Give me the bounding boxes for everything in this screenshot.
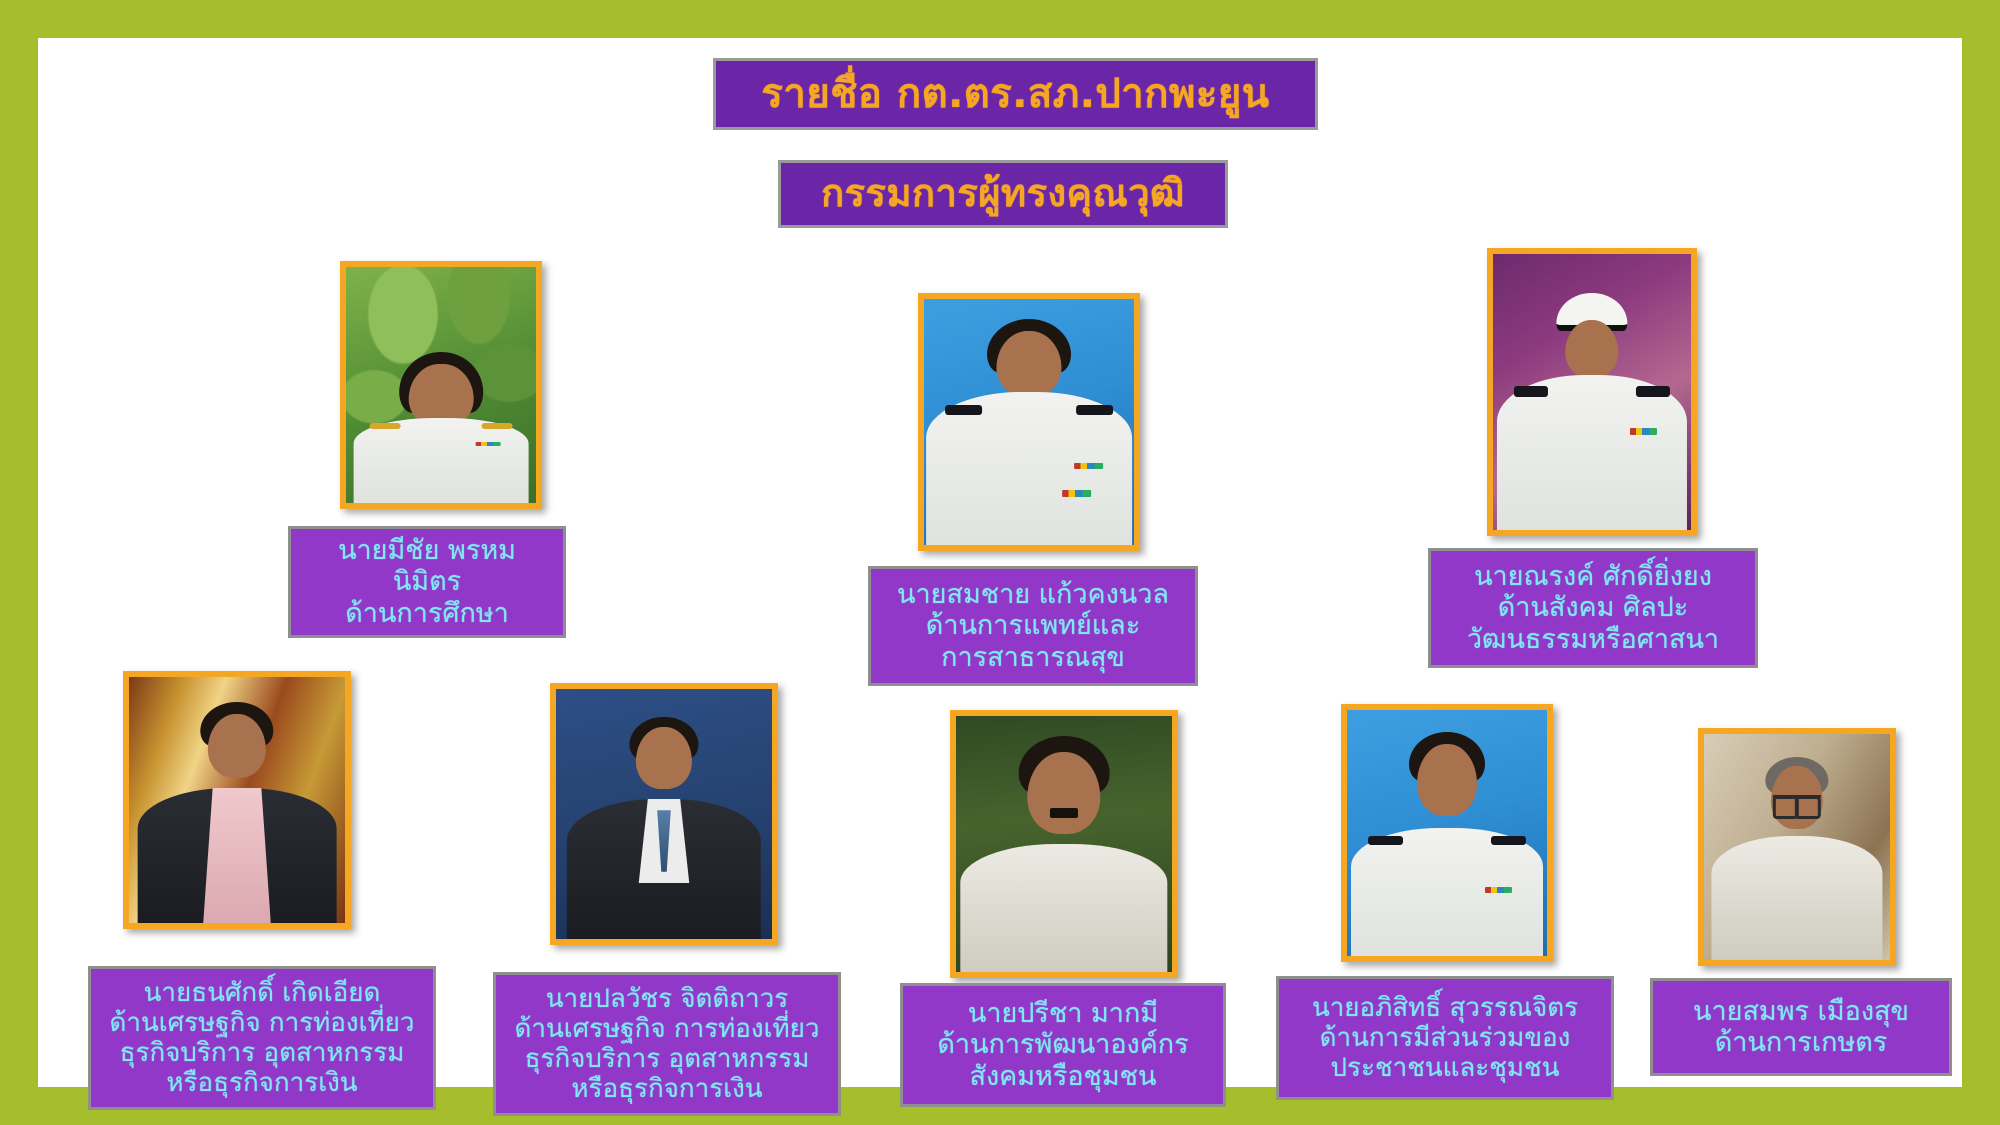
page-title: รายชื่อ กต.ตร.สภ.ปากพะยูน: [713, 58, 1318, 130]
member-role: ด้านการเกษตร: [1659, 1027, 1943, 1058]
member-name: นายธนศักดิ์ เกิดเอียด: [97, 978, 427, 1008]
epaulette-left-icon: [369, 423, 400, 429]
uniform-shape: [1497, 375, 1687, 530]
member-role-line1: ด้านสังคม ศิลปะ: [1437, 592, 1749, 623]
epaulette-right-icon: [1491, 836, 1526, 845]
member-role-line2: ธุรกิจบริการ อุตสาหกรรม: [97, 1038, 427, 1068]
shirt-shape: [960, 844, 1167, 972]
head-shape: [1565, 320, 1618, 378]
member-role-line1: ด้านการแพทย์และ: [877, 610, 1189, 641]
ribbon-bar-icon: [1074, 463, 1103, 470]
member-name: นายปรีชา มากมี: [909, 998, 1217, 1029]
slide-canvas: รายชื่อ กต.ตร.สภ.ปากพะยูน กรรมการผู้ทรงค…: [38, 38, 1962, 1087]
member-photo-somchai-kaewkhongnuan[interactable]: [918, 293, 1140, 551]
member-name: นายปลวัชร จิตติถาวร: [502, 984, 832, 1014]
head-shape: [1027, 752, 1100, 834]
member-name: นายสมพร เมืองสุข: [1659, 996, 1943, 1027]
uniform-shape: [1351, 828, 1543, 956]
member-role-line1: ด้านเศรษฐกิจ การท่องเที่ยว: [97, 1008, 427, 1038]
ribbon-bar-icon: [1485, 887, 1512, 893]
member-name: นายอภิสิทธิ์ สุวรรณจิตร: [1285, 993, 1605, 1023]
suit-shape: [138, 788, 337, 923]
member-name: นายณรงค์ ศักดิ์ยิ่งยง: [1437, 561, 1749, 592]
member-caption-somchai-kaewkhongnuan: นายสมชาย แก้วคงนวล ด้านการแพทย์และ การสา…: [868, 566, 1198, 686]
member-role-line2: ธุรกิจบริการ อุตสาหกรรม: [502, 1044, 832, 1074]
member-photo-meechai-phromnimit[interactable]: [340, 261, 542, 509]
uniform-shape: [354, 418, 529, 503]
member-role-line1: ด้านการมีส่วนร่วมของ: [1285, 1023, 1605, 1053]
member-role-line3: หรือธุรกิจการเงิน: [97, 1068, 427, 1098]
member-role-line2: วัฒนธรรมหรือศาสนา: [1437, 624, 1749, 655]
moustache-shape: [1050, 808, 1078, 818]
shirt-shape: [1711, 836, 1882, 960]
member-photo-pollawat-jittithaworn[interactable]: [550, 683, 778, 945]
epaulette-right-icon: [481, 423, 512, 429]
head-shape: [996, 331, 1061, 397]
member-photo-preecha-makmee[interactable]: [950, 710, 1178, 978]
member-caption-apisit-suwannajit: นายอภิสิทธิ์ สุวรรณจิตร ด้านการมีส่วนร่ว…: [1276, 976, 1614, 1100]
epaulette-left-icon: [1514, 386, 1548, 397]
member-caption-thanasak-koedaiad: นายธนศักดิ์ เกิดเอียด ด้านเศรษฐกิจ การท่…: [88, 966, 436, 1110]
ribbon-bar-icon: [476, 442, 500, 446]
head-shape: [636, 727, 692, 790]
epaulette-right-icon: [1636, 386, 1670, 397]
epaulette-left-icon: [945, 405, 982, 416]
member-caption-pollawat-jittithaworn: นายปลวัชร จิตติถาวร ด้านเศรษฐกิจ การท่อง…: [493, 972, 841, 1116]
ribbon-bar-icon: [1630, 428, 1657, 435]
member-caption-somporn-mueangsuk: นายสมพร เมืองสุข ด้านการเกษตร: [1650, 978, 1952, 1076]
shirt-shape: [203, 788, 271, 923]
uniform-shape: [926, 392, 1132, 545]
epaulette-left-icon: [1368, 836, 1403, 845]
member-role-line2: ประชาชนและชุมชน: [1285, 1053, 1605, 1083]
member-name: นายสมชาย แก้วคงนวล: [877, 579, 1189, 610]
head-shape: [1417, 744, 1477, 815]
section-subtitle: กรรมการผู้ทรงคุณวุฒิ: [778, 160, 1228, 228]
member-role-line2: สังคมหรือชุมชน: [909, 1061, 1217, 1092]
member-photo-somporn-mueangsuk[interactable]: [1698, 728, 1896, 966]
member-role-line2: การสาธารณสุข: [877, 642, 1189, 673]
member-name: นายมีชัย พรหม: [297, 535, 557, 566]
member-role-line1: ด้านเศรษฐกิจ การท่องเที่ยว: [502, 1014, 832, 1044]
member-role-line3: หรือธุรกิจการเงิน: [502, 1074, 832, 1104]
glasses-icon: [1773, 795, 1821, 815]
suit-shape: [567, 799, 761, 939]
epaulette-right-icon: [1076, 405, 1113, 416]
ribbon-bar-icon-2: [1062, 490, 1091, 497]
member-name-line2: นิมิตร: [297, 566, 557, 597]
member-role-line1: ด้านการพัฒนาองค์กร: [909, 1029, 1217, 1060]
member-caption-narong-sakdiyingyong: นายณรงค์ ศักดิ์ยิ่งยง ด้านสังคม ศิลปะ วั…: [1428, 548, 1758, 668]
member-photo-narong-sakdiyingyong[interactable]: [1487, 248, 1697, 536]
member-caption-preecha-makmee: นายปรีชา มากมี ด้านการพัฒนาองค์กร สังคมห…: [900, 983, 1226, 1107]
member-photo-thanasak-koedaiad[interactable]: [123, 671, 351, 929]
member-role: ด้านการศึกษา: [297, 598, 557, 629]
head-shape: [208, 714, 266, 778]
member-caption-meechai-phromnimit: นายมีชัย พรหม นิมิตร ด้านการศึกษา: [288, 526, 566, 638]
member-photo-apisit-suwannajit[interactable]: [1341, 704, 1553, 962]
